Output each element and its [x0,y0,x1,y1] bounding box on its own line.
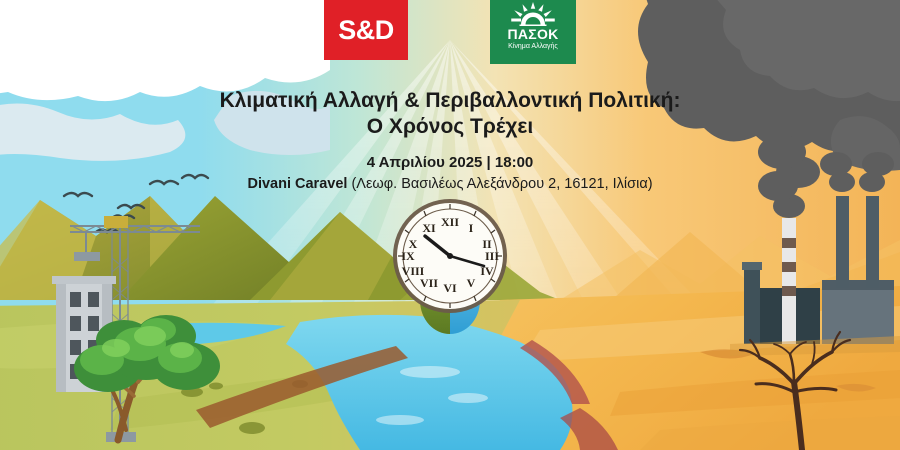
venue-address: (Λεωφ. Βασιλέως Αλεξάνδρου 2, 16121, Ιλί… [347,176,652,192]
svg-text:X: X [409,237,418,251]
event-datetime: 4 Απριλίου 2025 | 18:00 [0,154,900,171]
svg-text:V: V [467,276,476,290]
venue-name: Divani Caravel [247,176,347,192]
event-venue: Divani Caravel (Λεωφ. Βασιλέως Αλεξάνδρο… [0,176,900,192]
svg-text:III: III [485,249,499,263]
clock-droplet-graphic: XII I II III IV V VI VII VIII IX X XI [0,0,900,450]
svg-text:IX: IX [401,249,415,263]
event-banner: XII I II III IV V VI VII VIII IX X XI [0,0,900,450]
svg-text:XII: XII [441,215,459,229]
clock-face: XII I II III IV V VI VII VIII IX X XI [393,199,507,313]
page-title: Κλιματική Αλλαγή & Περιβαλλοντική Πολιτι… [140,88,760,140]
title-line-1: Κλιματική Αλλαγή & Περιβαλλοντική Πολιτι… [220,89,681,112]
title-line-2: Ο Χρόνος Τρέχει [140,114,760,140]
svg-text:VII: VII [420,276,438,290]
svg-text:VIII: VIII [402,264,425,278]
svg-text:I: I [469,221,474,235]
svg-text:VI: VI [443,281,457,295]
svg-text:XI: XI [422,221,436,235]
text-block: Κλιματική Αλλαγή & Περιβαλλοντική Πολιτι… [0,88,900,192]
